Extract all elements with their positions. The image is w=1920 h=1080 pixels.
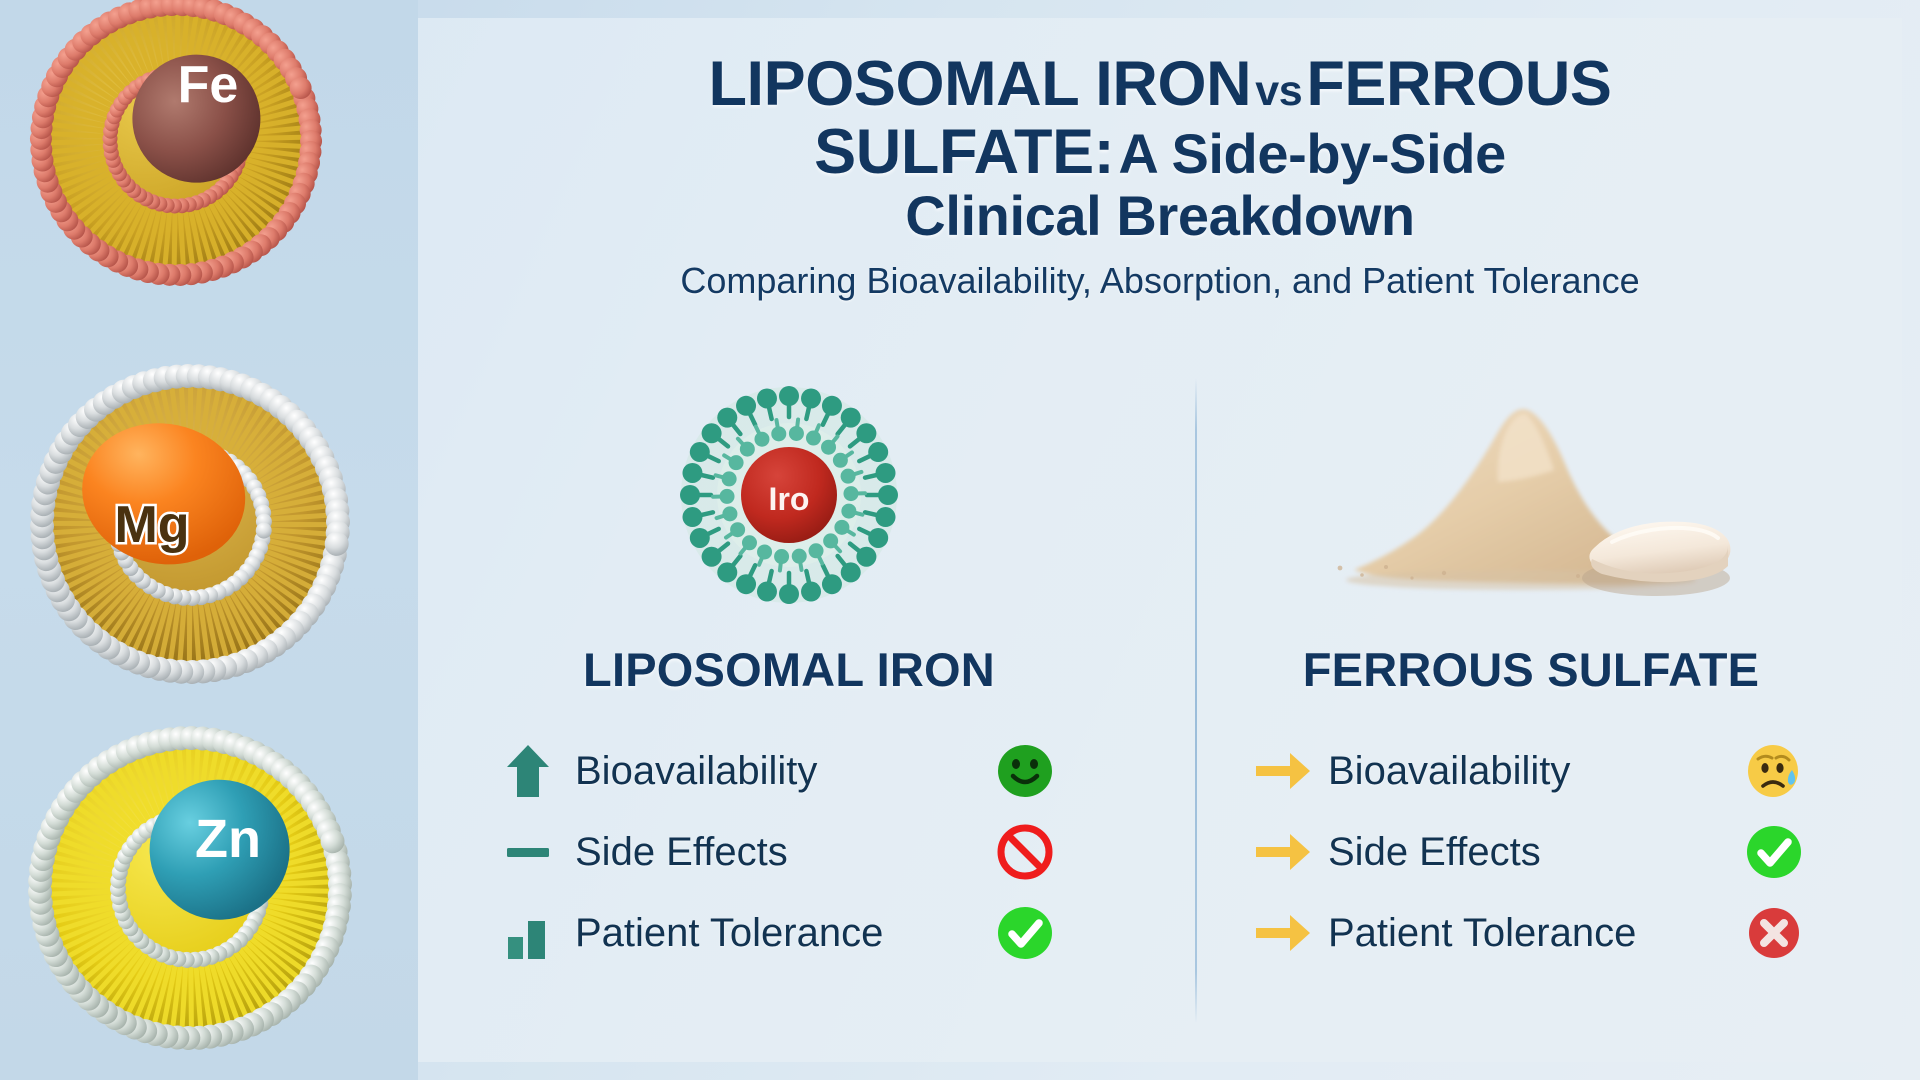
feature-label-patient-tolerance: Patient Tolerance bbox=[575, 911, 985, 956]
liposome-zn-icon: Zn bbox=[0, 712, 418, 1080]
title-vs: vs bbox=[1255, 67, 1302, 115]
prohibition-sign-icon bbox=[985, 823, 1065, 881]
liposome-mg-icon: Mg bbox=[0, 352, 418, 712]
powder-and-tablet-icon bbox=[1316, 370, 1746, 620]
ferrous-visual bbox=[1316, 370, 1746, 620]
arrow-right-icon bbox=[1254, 747, 1324, 795]
comparison-area: Iro LIPOSOMAL IRON Bioavailability bbox=[418, 370, 1902, 1036]
liposome-core-label: Iro bbox=[769, 481, 810, 517]
page-title-line-2: SULFATE: A Side-by-Side bbox=[418, 120, 1902, 184]
feature-label-side-effects: Side Effects bbox=[575, 830, 985, 875]
check-circle-icon bbox=[1734, 823, 1814, 881]
liposome-diagram-icon: Iro bbox=[639, 370, 939, 620]
arrow-right-icon bbox=[1254, 828, 1324, 876]
liposome-zn-figure: Zn bbox=[0, 712, 418, 1080]
feature-label-bioavailability: Bioavailability bbox=[1324, 749, 1734, 794]
page-title-line-1: LIPOSOMAL IRON vs FERROUS bbox=[418, 52, 1902, 116]
feature-row-patient-tolerance-liposomal: Patient Tolerance bbox=[505, 893, 1065, 973]
feature-row-side-effects-ferrous: Side Effects bbox=[1254, 812, 1814, 892]
feature-row-bioavailability-liposomal: Bioavailability bbox=[505, 731, 1065, 811]
title-side-by-side: A Side-by-Side bbox=[1118, 122, 1506, 185]
feature-row-bioavailability-ferrous: Bioavailability bbox=[1254, 731, 1814, 811]
column-heading-liposomal: LIPOSOMAL IRON bbox=[583, 642, 995, 697]
feature-label-side-effects: Side Effects bbox=[1324, 830, 1734, 875]
column-heading-ferrous: FERROUS SULFATE bbox=[1303, 642, 1759, 697]
title-sulfate: SULFATE: bbox=[814, 117, 1114, 187]
feature-label-bioavailability: Bioavailability bbox=[575, 749, 985, 794]
feature-list-liposomal: Bioavailability bbox=[505, 731, 1065, 973]
feature-list-ferrous: Bioavailability bbox=[1254, 731, 1814, 973]
title-liposomal-iron: LIPOSOMAL IRON bbox=[708, 49, 1251, 119]
dash-icon bbox=[505, 824, 575, 880]
liposome-gallery-rail: Fe bbox=[0, 0, 418, 1080]
liposome-fe-icon: Fe bbox=[0, 0, 418, 350]
feature-row-patient-tolerance-ferrous: Patient Tolerance bbox=[1254, 893, 1814, 973]
column-ferrous-sulfate: FERROUS SULFATE Bioavailability bbox=[1160, 370, 1902, 1036]
page-subtitle: Comparing Bioavailability, Absorption, a… bbox=[418, 260, 1902, 302]
arrow-right-icon bbox=[1254, 909, 1324, 957]
liposome-fe-label: Fe bbox=[178, 56, 239, 114]
feature-label-patient-tolerance: Patient Tolerance bbox=[1324, 911, 1734, 956]
liposome-fe-figure: Fe bbox=[0, 0, 418, 350]
worried-face-icon bbox=[1734, 742, 1814, 800]
feature-row-side-effects-liposomal: Side Effects bbox=[505, 812, 1065, 892]
arrow-up-icon bbox=[505, 743, 575, 799]
headline-block: LIPOSOMAL IRON vs FERROUS SULFATE: A Sid… bbox=[418, 52, 1902, 302]
infographic-canvas: Fe bbox=[0, 0, 1920, 1080]
check-circle-icon bbox=[985, 904, 1065, 962]
liposome-mg-figure: Mg bbox=[0, 352, 418, 712]
liposome-mg-label: Mg bbox=[114, 496, 189, 554]
title-clinical-breakdown: Clinical Breakdown bbox=[905, 184, 1414, 247]
bar-chart-icon bbox=[505, 905, 575, 961]
liposomal-visual: Iro bbox=[639, 370, 939, 620]
cross-circle-icon bbox=[1734, 906, 1814, 960]
column-liposomal-iron: Iro LIPOSOMAL IRON Bioavailability bbox=[418, 370, 1160, 1036]
page-title-line-3: Clinical Breakdown bbox=[418, 187, 1902, 244]
smiley-face-icon bbox=[985, 742, 1065, 800]
liposome-zn-label: Zn bbox=[195, 809, 261, 869]
title-ferrous: FERROUS bbox=[1306, 49, 1611, 119]
